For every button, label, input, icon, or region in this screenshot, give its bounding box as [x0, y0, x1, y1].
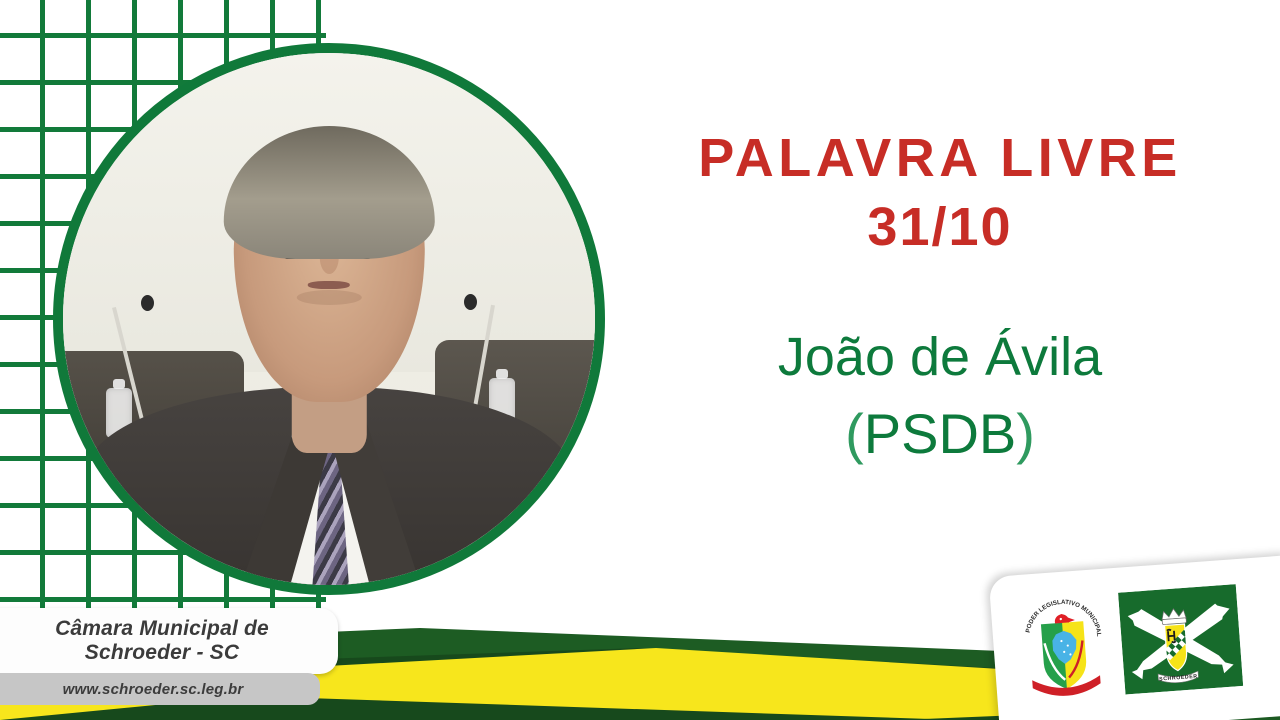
- paren-open: (: [845, 402, 864, 465]
- party-acronym: PSDB: [864, 402, 1017, 465]
- hair: [223, 126, 434, 259]
- paren-close: ): [1016, 402, 1035, 465]
- portrait-image: [63, 53, 595, 585]
- person-figure: [159, 96, 499, 595]
- speaker-portrait: [53, 43, 605, 595]
- website-url[interactable]: www.schroeder.sc.leg.br: [63, 681, 244, 698]
- headline-line-1: PALAVRA LIVRE: [698, 128, 1182, 188]
- page-title: PALAVRA LIVRE 31/10: [640, 124, 1240, 262]
- institution-label-card: Câmara Municipal de Schroeder - SC: [0, 608, 338, 674]
- poder-legislativo-crest-icon: PODER LEGISLATIVO MUNICIPAL: [1016, 591, 1112, 705]
- mouth: [308, 281, 350, 290]
- institution-line-2: Schroeder - SC: [55, 641, 269, 665]
- emblem-group: PODER LEGISLATIVO MUNICIPAL: [1016, 581, 1243, 705]
- chin-shadow: [297, 290, 362, 305]
- schroeder-flag-icon: SCHROEDER: [1118, 584, 1243, 694]
- website-band: www.schroeder.sc.leg.br: [0, 673, 320, 705]
- speaker-party: (PSDB): [640, 395, 1240, 472]
- microphone-head-left: [141, 295, 154, 311]
- institution-line-1: Câmara Municipal de: [55, 617, 269, 641]
- institution-name: Câmara Municipal de Schroeder - SC: [55, 617, 269, 665]
- speaker-name: João de Ávila: [778, 327, 1102, 387]
- poster-canvas: PALAVRA LIVRE 31/10 João de Ávila (PSDB)…: [0, 0, 1280, 720]
- speaker-info: João de Ávila (PSDB): [640, 320, 1240, 472]
- headline-line-2: 31/10: [640, 193, 1240, 262]
- emblem-card: PODER LEGISLATIVO MUNICIPAL: [989, 555, 1280, 720]
